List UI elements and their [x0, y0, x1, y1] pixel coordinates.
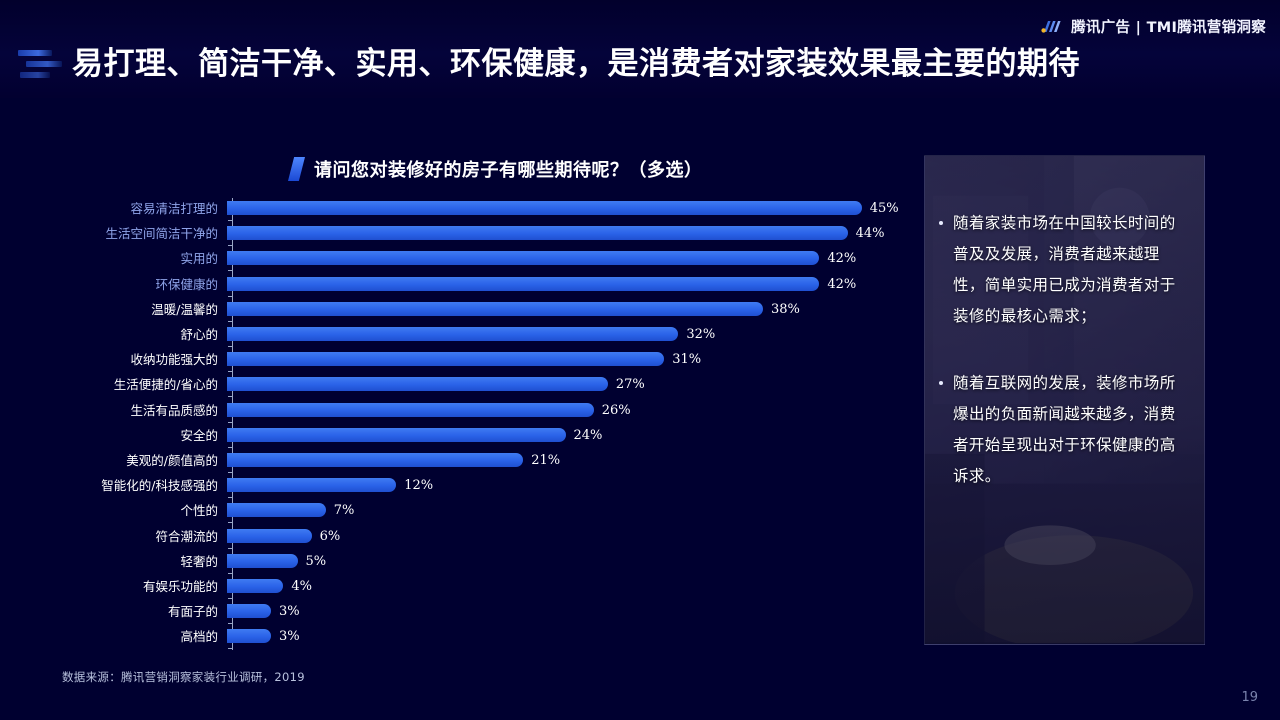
bar-category-label: 温暖/温馨的: [60, 297, 226, 322]
bar: [227, 579, 283, 593]
bar-value-label: 42%: [827, 272, 856, 297]
bar-category-label: 安全的: [60, 423, 226, 448]
bar-category-label: 有娱乐功能的: [60, 574, 226, 599]
bar-category-label: 有面子的: [60, 599, 226, 624]
bar: [227, 302, 763, 316]
insight-bullet-list: 随着家装市场在中国较长时间的普及及发展，消费者越来越理性，简单实用已成为消费者对…: [939, 208, 1190, 528]
bar: [227, 428, 566, 442]
chart-bar-row: 生活空间简洁干净的44%: [60, 221, 910, 246]
bar: [227, 226, 848, 240]
brand-lockup: 腾讯广告 | TMI腾讯营销洞察: [1041, 16, 1266, 36]
bar: [227, 327, 678, 341]
bar: [227, 377, 608, 391]
bar-track: 5%: [226, 549, 910, 574]
bar-category-label: 生活空间简洁干净的: [60, 221, 226, 246]
insight-bullet: 随着家装市场在中国较长时间的普及及发展，消费者越来越理性，简单实用已成为消费者对…: [939, 208, 1190, 332]
chart-bar-row: 舒心的32%: [60, 322, 910, 347]
bar-track: 21%: [226, 448, 910, 473]
bar-track: 38%: [226, 297, 910, 322]
chart-bar-row: 安全的24%: [60, 423, 910, 448]
bar: [227, 403, 594, 417]
source-note: 数据来源：腾讯营销洞察家装行业调研，2019: [62, 669, 305, 685]
tencent-ads-logo-icon: [1041, 18, 1065, 35]
slide-root: 腾讯广告 | TMI腾讯营销洞察 易打理、简洁干净、实用、环保健康，是消费者对家…: [0, 0, 1280, 720]
bar: [227, 251, 819, 265]
bar: [227, 352, 664, 366]
bar-category-label: 舒心的: [60, 322, 226, 347]
title-decoration-icon: [16, 47, 68, 81]
bar-value-label: 44%: [856, 221, 885, 246]
chart-bar-row: 轻奢的5%: [60, 549, 910, 574]
bar-track: 3%: [226, 624, 910, 649]
bar-value-label: 38%: [771, 297, 800, 322]
brand-text: 腾讯广告 | TMI腾讯营销洞察: [1071, 16, 1266, 37]
bar-track: 42%: [226, 246, 910, 271]
bar-value-label: 31%: [672, 347, 701, 372]
bar-track: 27%: [226, 372, 910, 397]
chart-bar-row: 环保健康的42%: [60, 272, 910, 297]
bar-track: 32%: [226, 322, 910, 347]
bar-track: 12%: [226, 473, 910, 498]
bar-track: 3%: [226, 599, 910, 624]
bar: [227, 529, 312, 543]
chart-bar-row: 符合潮流的6%: [60, 524, 910, 549]
bar-track: 24%: [226, 423, 910, 448]
page-title: 易打理、简洁干净、实用、环保健康，是消费者对家装效果最主要的期待: [72, 40, 1252, 88]
chart-bar-row: 收纳功能强大的31%: [60, 347, 910, 372]
chart-title-text: 请问您对装修好的房子有哪些期待呢？（多选）: [314, 156, 703, 182]
bar: [227, 604, 271, 618]
bar-track: 45%: [226, 196, 910, 221]
chart-bar-row: 高档的3%: [60, 624, 910, 649]
bar-category-label: 生活便捷的/省心的: [60, 372, 226, 397]
ribbon-accent-icon: [288, 157, 305, 181]
bar-track: 44%: [226, 221, 910, 246]
insight-bullet-text: 随着互联网的发展，装修市场所爆出的负面新闻越来越多，消费者开始呈现出对于环保健康…: [953, 368, 1190, 492]
insight-bullet-text: 随着家装市场在中国较长时间的普及及发展，消费者越来越理性，简单实用已成为消费者对…: [953, 208, 1190, 332]
bar-chart: 容易清洁打理的45%生活空间简洁干净的44%实用的42%环保健康的42%温暖/温…: [60, 196, 910, 652]
page-number: 19: [1241, 690, 1258, 705]
bar-category-label: 轻奢的: [60, 549, 226, 574]
header-band: 腾讯广告 | TMI腾讯营销洞察 易打理、简洁干净、实用、环保健康，是消费者对家…: [0, 0, 1280, 98]
chart-bar-row: 实用的42%: [60, 246, 910, 271]
chart-bar-row: 美观的/颜值高的21%: [60, 448, 910, 473]
bar-category-label: 实用的: [60, 246, 226, 271]
bar-value-label: 3%: [279, 599, 300, 624]
bar: [227, 201, 862, 215]
bar-value-label: 4%: [291, 574, 312, 599]
chart-title: 请问您对装修好的房子有哪些期待呢？（多选）: [288, 156, 703, 182]
bar-value-label: 26%: [602, 398, 631, 423]
bar-track: 42%: [226, 272, 910, 297]
bar: [227, 554, 298, 568]
bar-track: 31%: [226, 347, 910, 372]
bar-value-label: 6%: [320, 524, 341, 549]
bullet-dot-icon: [939, 381, 943, 385]
chart-bar-row: 有娱乐功能的4%: [60, 574, 910, 599]
bar: [227, 453, 523, 467]
bar-category-label: 美观的/颜值高的: [60, 448, 226, 473]
bar-track: 7%: [226, 498, 910, 523]
bullet-dot-icon: [939, 221, 943, 225]
bar: [227, 629, 271, 643]
bar-category-label: 生活有品质感的: [60, 398, 226, 423]
bar-value-label: 3%: [279, 624, 300, 649]
bar-value-label: 24%: [574, 423, 603, 448]
bar-category-label: 环保健康的: [60, 272, 226, 297]
bar-category-label: 符合潮流的: [60, 524, 226, 549]
chart-bar-row: 有面子的3%: [60, 599, 910, 624]
chart-bar-row: 个性的7%: [60, 498, 910, 523]
bar-value-label: 5%: [306, 549, 327, 574]
bar-value-label: 7%: [334, 498, 355, 523]
chart-bar-row: 生活有品质感的26%: [60, 398, 910, 423]
bar-category-label: 高档的: [60, 624, 226, 649]
bar-value-label: 32%: [686, 322, 715, 347]
insight-bullet: 随着互联网的发展，装修市场所爆出的负面新闻越来越多，消费者开始呈现出对于环保健康…: [939, 368, 1190, 492]
bar-value-label: 21%: [531, 448, 560, 473]
bar-track: 26%: [226, 398, 910, 423]
chart-bar-row: 智能化的/科技感强的12%: [60, 473, 910, 498]
chart-bar-row: 温暖/温馨的38%: [60, 297, 910, 322]
bar-value-label: 12%: [404, 473, 433, 498]
bar: [227, 478, 396, 492]
bar-category-label: 收纳功能强大的: [60, 347, 226, 372]
bar-category-label: 容易清洁打理的: [60, 196, 226, 221]
bar: [227, 277, 819, 291]
bar-category-label: 个性的: [60, 498, 226, 523]
chart-bar-row: 容易清洁打理的45%: [60, 196, 910, 221]
bar: [227, 503, 326, 517]
bar-category-label: 智能化的/科技感强的: [60, 473, 226, 498]
bar-value-label: 27%: [616, 372, 645, 397]
insight-panel: 随着家装市场在中国较长时间的普及及发展，消费者越来越理性，简单实用已成为消费者对…: [924, 155, 1205, 645]
bar-value-label: 45%: [870, 196, 899, 221]
chart-bar-row: 生活便捷的/省心的27%: [60, 372, 910, 397]
bar-track: 4%: [226, 574, 910, 599]
bar-track: 6%: [226, 524, 910, 549]
bar-value-label: 42%: [827, 246, 856, 271]
